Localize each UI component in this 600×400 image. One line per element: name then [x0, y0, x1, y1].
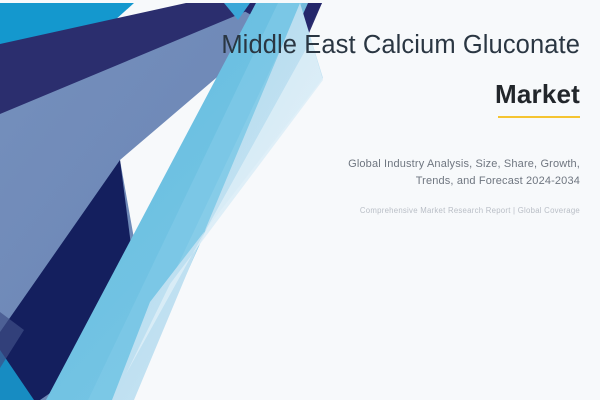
page-title: Middle East Calcium Gluconate — [200, 30, 580, 62]
accent-underline-rule — [498, 116, 580, 119]
cover-caption: Comprehensive Market Research Report | G… — [200, 206, 580, 215]
cover-text-block: Middle East Calcium Gluconate Market Glo… — [200, 30, 580, 215]
subtitle-line-2: Trends, and Forecast 2024-2034 — [200, 173, 580, 190]
market-report-cover: Middle East Calcium Gluconate Market Glo… — [0, 0, 600, 400]
market-heading-group: Market — [200, 79, 580, 119]
subtitle: Global Industry Analysis, Size, Share, G… — [200, 156, 580, 189]
subtitle-line-1: Global Industry Analysis, Size, Share, G… — [200, 156, 580, 173]
title-accent-word: Market — [495, 79, 580, 110]
